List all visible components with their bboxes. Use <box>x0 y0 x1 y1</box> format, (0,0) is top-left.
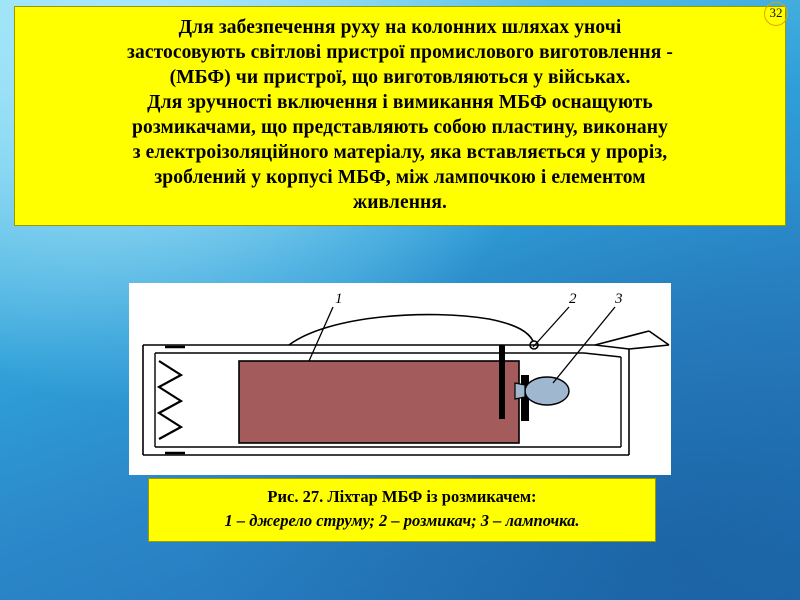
figure-label-2: 2 <box>569 291 577 307</box>
figure-label-1: 1 <box>335 291 343 307</box>
body-line-8: живлення. <box>25 190 775 215</box>
body-line-6: з електроізоляційного матеріалу, яка вст… <box>25 140 775 165</box>
body-line-2: застосовують світлові пристрої промислов… <box>25 40 775 65</box>
body-text-panel: Для забезпечення руху на колонних шляхах… <box>14 6 786 226</box>
figure-label-3: 3 <box>614 291 623 307</box>
body-line-5: розмикачами, що представляють собою плас… <box>25 115 775 140</box>
caption-legend: 1 – джерело струму; 2 – розмикач; 3 – ла… <box>157 509 647 533</box>
figure-caption-panel: Рис. 27. Ліхтар МБФ із розмикачем: 1 – д… <box>148 478 656 542</box>
body-line-3: (МБФ) чи пристрої, що виготовляються у в… <box>25 65 775 90</box>
page-number-value: 32 <box>764 5 788 21</box>
body-line-7: зроблений у корпусі МБФ, між лампочкою і… <box>25 165 775 190</box>
slide-canvas: 32 Для забезпечення руху на колонних шля… <box>0 0 800 600</box>
page-number-badge: 32 <box>764 2 790 28</box>
body-line-1: Для забезпечення руху на колонних шляхах… <box>25 15 775 40</box>
caption-title: Рис. 27. Ліхтар МБФ із розмикачем: <box>157 485 647 509</box>
body-line-4: Для зручності включення і вимикання МБФ … <box>25 90 775 115</box>
figure-image: 1 2 3 <box>129 283 671 475</box>
